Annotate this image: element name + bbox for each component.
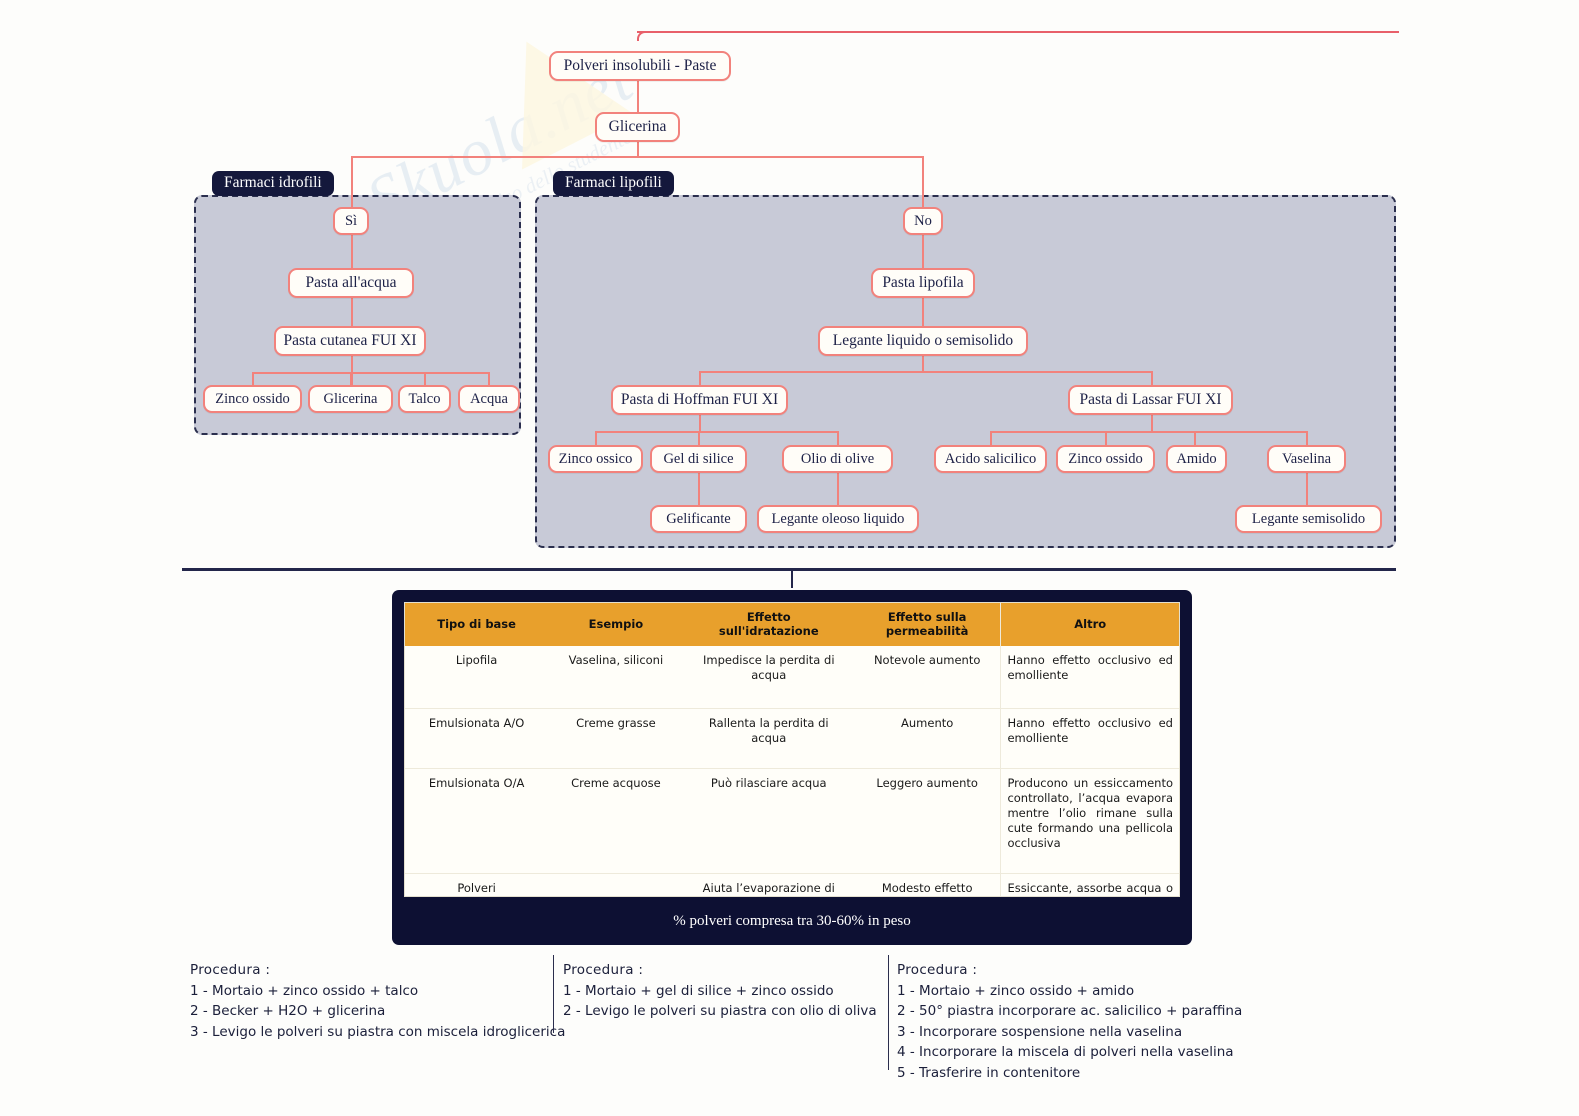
node-hoffman-component-0-label: Zinco ossico xyxy=(559,452,633,467)
node-lassar-component-0[interactable]: Acido salicilico xyxy=(934,445,1047,473)
table-header-effetto-permeabilita: Effetto sulla permeabilità xyxy=(854,603,1001,646)
node-legante-liquido[interactable]: Legante liquido o semisolido xyxy=(818,326,1028,356)
connector-hoffman-comp-2 xyxy=(698,431,700,445)
group-label-lipofili-text: Farmaci lipofili xyxy=(565,174,662,191)
table-header-effetto-idratazione: Effetto sull'idratazione xyxy=(684,603,854,646)
cell-altro: Hanno effetto occlusivo ed emolliente xyxy=(1001,708,1179,768)
node-pasta-lipofila[interactable]: Pasta lipofila xyxy=(871,268,975,298)
node-left-component-2[interactable]: Talco xyxy=(398,385,451,413)
node-pasta-hoffman[interactable]: Pasta di Hoffman FUI XI xyxy=(611,385,788,415)
cell-altro: Producono un essiccamento controllato, l… xyxy=(1001,768,1179,873)
connector-to-lassar xyxy=(1151,371,1153,385)
node-hoffman-sub-1[interactable]: Legante oleoso liquido xyxy=(757,505,919,533)
cell-tipo: Polveri xyxy=(405,873,548,897)
node-left-component-2-label: Talco xyxy=(409,392,441,407)
table-row: Emulsionata A/O Creme grasse Rallenta la… xyxy=(405,708,1179,768)
table-header-effetto-idratazione-line0: Effetto xyxy=(688,610,850,624)
mid-horizontal-rule xyxy=(182,568,1396,571)
table-row: Lipofila Vaselina, siliconi Impedisce la… xyxy=(405,646,1179,708)
node-decision-si-label: Sì xyxy=(345,214,357,229)
connector-lassar-comp-2 xyxy=(1105,431,1107,445)
note-middle: Procedura : 1 - Mortaio + gel di silice … xyxy=(563,960,877,1022)
node-hoffman-component-2-label: Olio di olive xyxy=(801,452,874,467)
table-header-esempio-line0: Esempio xyxy=(552,617,679,631)
node-glicerina[interactable]: Glicerina xyxy=(595,112,680,142)
node-hoffman-component-1[interactable]: Gel di silice xyxy=(650,445,747,473)
table-header-altro: Altro xyxy=(1001,603,1179,646)
table-header-esempio: Esempio xyxy=(548,603,683,646)
connector-lassar-down xyxy=(1151,415,1153,432)
table-header-altro-line0: Altro xyxy=(1005,617,1175,631)
connector-left-comp-1 xyxy=(252,372,254,386)
connector-to-hoffman xyxy=(699,371,701,385)
cell-idratazione: Può rilasciare acqua xyxy=(684,768,854,873)
cell-permeabilita: Modesto effetto xyxy=(854,873,1001,897)
node-pasta-allacqua[interactable]: Pasta all'acqua xyxy=(288,268,414,298)
node-hoffman-component-1-label: Gel di silice xyxy=(663,452,733,467)
node-pasta-cutanea[interactable]: Pasta cutanea FUI XI xyxy=(274,326,426,356)
node-lassar-sub-0[interactable]: Legante semisolido xyxy=(1235,505,1382,533)
node-pasta-lassar-label: Pasta di Lassar FUI XI xyxy=(1079,392,1221,408)
cell-altro: Hanno effetto occlusivo ed emolliente xyxy=(1001,646,1179,708)
table-row: Emulsionata O/A Creme acquose Può rilasc… xyxy=(405,768,1179,873)
cell-idratazione: Impedisce la perdita di acqua xyxy=(684,646,854,708)
node-pasta-cutanea-label: Pasta cutanea FUI XI xyxy=(284,333,417,349)
note-left: Procedura : 1 - Mortaio + zinco ossido +… xyxy=(190,960,565,1042)
top-red-rule xyxy=(637,31,1399,33)
note-right-step-3: 4 - Incorporare la miscela di polveri ne… xyxy=(897,1042,1242,1063)
node-lassar-component-0-label: Acido salicilico xyxy=(945,452,1036,467)
connector-si-to-pasta-acqua xyxy=(351,235,353,270)
node-lassar-component-3-label: Vaselina xyxy=(1282,452,1331,467)
cell-tipo: Lipofila xyxy=(405,646,548,708)
node-lassar-component-1-label: Zinco ossido xyxy=(1068,452,1143,467)
connector-split-right xyxy=(922,156,924,209)
cell-tipo: Emulsionata O/A xyxy=(405,768,548,873)
note-left-step-2: 3 - Levigo le polveri su piastra con mis… xyxy=(190,1022,565,1043)
connector-split-bus xyxy=(351,156,923,158)
table-header-effetto-permeabilita-line1: permeabilità xyxy=(858,624,997,638)
note-right-step-4: 5 - Trasferire in contenitore xyxy=(897,1063,1242,1084)
connector-legante-down xyxy=(922,356,924,372)
connector-split-left xyxy=(351,156,353,209)
connector-glicerina-down xyxy=(637,142,639,157)
cell-permeabilita: Leggero aumento xyxy=(854,768,1001,873)
table-header-effetto-idratazione-line1: sull'idratazione xyxy=(688,624,850,638)
note-left-title: Procedura : xyxy=(190,960,565,981)
connector-left-comp-3 xyxy=(424,372,426,386)
node-decision-no[interactable]: No xyxy=(903,207,943,235)
table-header-effetto-permeabilita-line0: Effetto sulla xyxy=(858,610,997,624)
note-right-step-0: 1 - Mortaio + zinco ossido + amido xyxy=(897,981,1242,1002)
note-right-step-1: 2 - 50° piastra incorporare ac. salicili… xyxy=(897,1001,1242,1022)
node-pasta-allacqua-label: Pasta all'acqua xyxy=(305,275,396,291)
connector-lassar-comp-1 xyxy=(990,431,992,445)
watermark-triangle xyxy=(471,13,632,169)
mid-rule-tick xyxy=(791,571,793,588)
connector-hoffman-lassar-bus xyxy=(699,371,1152,373)
table-row: Polveri Aiuta l’evaporazione di acqua Mo… xyxy=(405,873,1179,897)
node-left-component-3[interactable]: Acqua xyxy=(458,385,520,413)
base-table-card: Tipo di base Esempio Effetto sull'idrata… xyxy=(392,590,1192,945)
connector-pasta-acqua-to-cutanea xyxy=(351,298,353,328)
node-lassar-component-2[interactable]: Amido xyxy=(1166,445,1227,473)
group-label-idrofili: Farmaci idrofili xyxy=(212,171,334,196)
connector-vaselina-to-legante-semisolido xyxy=(1306,473,1308,505)
connector-lassar-comp-3 xyxy=(1194,431,1196,445)
note-middle-step-0: 1 - Mortaio + gel di silice + zinco ossi… xyxy=(563,981,877,1002)
cell-tipo: Emulsionata A/O xyxy=(405,708,548,768)
note-left-step-1: 2 - Becker + H2O + glicerina xyxy=(190,1001,565,1022)
cell-esempio: Creme grasse xyxy=(548,708,683,768)
node-lassar-component-3[interactable]: Vaselina xyxy=(1267,445,1346,473)
note-middle-step-1: 2 - Levigo le polveri su piastra con oli… xyxy=(563,1001,877,1022)
cell-altro: Essiccante, assorbe acqua o essudati dal… xyxy=(1001,873,1179,897)
node-left-component-1[interactable]: Glicerina xyxy=(308,385,393,413)
node-pasta-lassar[interactable]: Pasta di Lassar FUI XI xyxy=(1068,385,1233,415)
cell-idratazione: Aiuta l’evaporazione di acqua xyxy=(684,873,854,897)
node-hoffman-sub-0-label: Gelificante xyxy=(666,512,730,527)
note-middle-title: Procedura : xyxy=(563,960,877,981)
node-lassar-component-1[interactable]: Zinco ossido xyxy=(1056,445,1155,473)
connector-left-comp-2 xyxy=(350,372,352,386)
cell-esempio: Creme acquose xyxy=(548,768,683,873)
node-lassar-sub-0-label: Legante semisolido xyxy=(1252,512,1365,527)
connector-lassar-comp-4 xyxy=(1306,431,1308,445)
note-divider-2 xyxy=(888,955,889,1070)
node-hoffman-sub-1-label: Legante oleoso liquido xyxy=(772,512,905,527)
group-label-lipofili: Farmaci lipofili xyxy=(553,171,674,196)
node-pasta-hoffman-label: Pasta di Hoffman FUI XI xyxy=(621,392,778,408)
base-table: Tipo di base Esempio Effetto sull'idrata… xyxy=(405,603,1179,897)
node-lassar-component-2-label: Amido xyxy=(1176,452,1216,467)
connector-hoffman-comp-3 xyxy=(837,431,839,445)
connector-left-comp-4 xyxy=(488,372,490,386)
node-left-component-3-label: Acqua xyxy=(470,392,508,407)
note-left-step-0: 1 - Mortaio + zinco ossido + talco xyxy=(190,981,565,1002)
connector-lassar-components-bus xyxy=(990,431,1308,433)
connector-hoffman-comp-1 xyxy=(595,431,597,445)
cell-idratazione: Rallenta la perdita di acqua xyxy=(684,708,854,768)
note-right-step-2: 3 - Incorporare sospensione nella vaseli… xyxy=(897,1022,1242,1043)
connector-olio-to-legante-oleoso xyxy=(837,473,839,505)
node-hoffman-sub-0[interactable]: Gelificante xyxy=(650,505,747,533)
note-right: Procedura : 1 - Mortaio + zinco ossido +… xyxy=(897,960,1242,1083)
table-footnote: % polveri compresa tra 30-60% in peso xyxy=(404,897,1180,945)
table-header-tipo-di-base-line0: Tipo di base xyxy=(409,617,544,631)
connector-root-to-glicerina xyxy=(637,81,639,114)
connector-gel-to-gelificante xyxy=(698,473,700,505)
node-root[interactable]: Polveri insolubili - Paste xyxy=(549,51,731,81)
connector-left-components-bus xyxy=(252,372,489,374)
table-header-row: Tipo di base Esempio Effetto sull'idrata… xyxy=(405,603,1179,646)
connector-no-to-pasta-lipofila xyxy=(922,235,924,270)
node-hoffman-component-0[interactable]: Zinco ossico xyxy=(548,445,643,473)
node-decision-si[interactable]: Sì xyxy=(333,207,369,235)
node-root-label: Polveri insolubili - Paste xyxy=(564,58,717,74)
node-legante-liquido-label: Legante liquido o semisolido xyxy=(833,333,1013,349)
node-hoffman-component-2[interactable]: Olio di olive xyxy=(782,445,893,473)
node-left-component-0-label: Zinco ossido xyxy=(215,392,290,407)
cell-esempio: Vaselina, siliconi xyxy=(548,646,683,708)
table-header-tipo-di-base: Tipo di base xyxy=(405,603,548,646)
node-decision-no-label: No xyxy=(914,214,932,229)
top-red-rule-corner xyxy=(637,31,647,41)
connector-hoffman-components-bus xyxy=(595,431,838,433)
note-right-title: Procedura : xyxy=(897,960,1242,981)
connector-hoffman-down xyxy=(699,415,701,432)
node-glicerina-label: Glicerina xyxy=(609,119,667,135)
connector-lipofila-to-legante xyxy=(922,298,924,328)
node-pasta-lipofila-label: Pasta lipofila xyxy=(882,275,963,291)
cell-permeabilita: Aumento xyxy=(854,708,1001,768)
cell-esempio xyxy=(548,873,683,897)
cell-permeabilita: Notevole aumento xyxy=(854,646,1001,708)
node-left-component-1-label: Glicerina xyxy=(324,392,378,407)
group-label-idrofili-text: Farmaci idrofili xyxy=(224,174,322,191)
note-divider-1 xyxy=(553,955,554,1033)
base-table-inner: Tipo di base Esempio Effetto sull'idrata… xyxy=(404,602,1180,897)
node-left-component-0[interactable]: Zinco ossido xyxy=(203,385,302,413)
